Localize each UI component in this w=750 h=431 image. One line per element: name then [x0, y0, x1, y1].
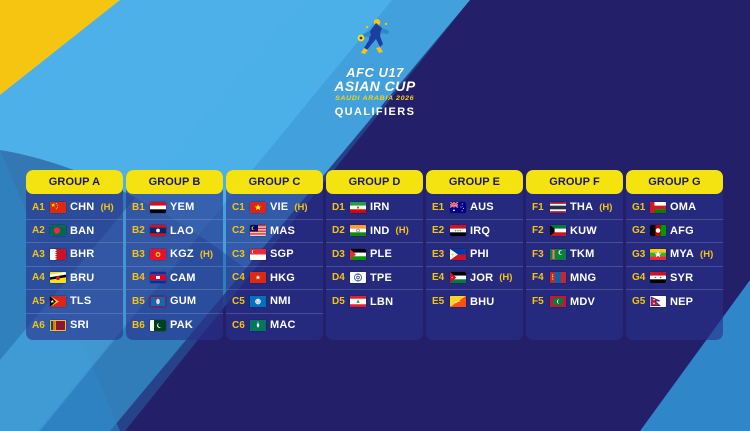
flag-hongkong-icon: [250, 272, 266, 283]
flag-singapore-icon: [250, 249, 266, 260]
team-code: TPE: [370, 272, 392, 284]
team-row: F1THA(H): [526, 196, 623, 220]
team-position: E5: [432, 296, 446, 307]
host-marker: (H): [700, 249, 713, 260]
flag-nepal-icon: [650, 296, 666, 307]
flag-malaysia-icon: [250, 225, 266, 236]
team-position: C6: [232, 320, 246, 331]
team-row: E2★★★IRQ: [426, 220, 523, 244]
team-row: D1IRN: [326, 196, 423, 220]
team-row: E4JOR(H): [426, 267, 523, 291]
team-row: C3SGP: [226, 243, 323, 267]
team-position: E3: [432, 249, 446, 260]
team-code: VIE: [270, 201, 288, 213]
team-code: MDV: [570, 296, 595, 308]
flag-guam-icon: [150, 296, 166, 307]
team-position: F4: [532, 272, 546, 283]
host-marker: (H): [294, 202, 307, 213]
host-marker: (H): [499, 272, 512, 283]
team-row: A1CHN(H): [26, 196, 123, 220]
group-team-list: D1IRND2IND(H)D3PLED4TPED5LBN: [326, 194, 423, 317]
team-row: B6PAK: [126, 314, 223, 338]
flag-afghanistan-icon: [650, 225, 666, 236]
team-code: MYA: [670, 248, 694, 260]
team-position: F1: [532, 202, 546, 213]
team-row: F3TKM: [526, 243, 623, 267]
team-position: F5: [532, 296, 546, 307]
team-row: A3BHR: [26, 243, 123, 267]
team-position: G3: [632, 249, 646, 260]
team-position: G2: [632, 225, 646, 236]
group-title: GROUP F: [526, 170, 623, 194]
flag-iraq-icon: ★★★: [450, 225, 466, 236]
flag-lebanon-icon: [350, 296, 366, 307]
flag-palestine-icon: [350, 249, 366, 260]
group-title: GROUP B: [126, 170, 223, 194]
group-card-b: GROUP BB1YEMB2LAOB3KGZ(H)B4CAMB5GUMB6PAK: [126, 170, 223, 340]
flag-chinesetaipei-icon: [350, 272, 366, 283]
team-row: E3PHI: [426, 243, 523, 267]
flag-thailand-icon: [550, 202, 566, 213]
flag-iran-icon: [350, 202, 366, 213]
team-code: LBN: [370, 296, 393, 308]
team-code: AFG: [670, 225, 694, 237]
team-row: G4SYR: [626, 267, 723, 291]
flag-oman-icon: [650, 202, 666, 213]
team-position: C4: [232, 272, 246, 283]
team-position: C3: [232, 249, 246, 260]
team-position: E2: [432, 225, 446, 236]
team-position: D4: [332, 272, 346, 283]
group-card-c: GROUP CC1VIE(H)C2MASC3SGPC4HKGC5NMIC6MAC: [226, 170, 323, 340]
team-row: B3KGZ(H): [126, 243, 223, 267]
svg-text:★★★: ★★★: [455, 229, 463, 233]
team-code: GUM: [170, 295, 196, 307]
team-position: B5: [132, 296, 146, 307]
team-position: D2: [332, 225, 346, 236]
group-team-list: B1YEMB2LAOB3KGZ(H)B4CAMB5GUMB6PAK: [126, 194, 223, 340]
team-position: E1: [432, 202, 446, 213]
team-position: A2: [32, 225, 46, 236]
team-row: D5LBN: [326, 290, 423, 314]
group-team-list: F1THA(H)F2KUWF3TKMF4MNGF5MDV: [526, 194, 623, 317]
team-row: A4BRU: [26, 267, 123, 291]
team-row: C1VIE(H): [226, 196, 323, 220]
group-card-f: GROUP FF1THA(H)F2KUWF3TKMF4MNGF5MDV: [526, 170, 623, 340]
flag-srilanka-icon: [50, 320, 66, 331]
team-code: YEM: [170, 201, 194, 213]
team-position: A6: [32, 320, 46, 331]
team-position: B6: [132, 320, 146, 331]
team-code: THA: [570, 201, 593, 213]
flag-india-icon: [350, 225, 366, 236]
team-code: AUS: [470, 201, 494, 213]
team-code: OMA: [670, 201, 696, 213]
team-row: B2LAO: [126, 220, 223, 244]
team-code: MAC: [270, 319, 296, 331]
team-code: PLE: [370, 248, 392, 260]
flag-bhutan-icon: [450, 296, 466, 307]
flag-china-icon: [50, 202, 66, 213]
team-code: LAO: [170, 225, 194, 237]
team-row: A6SRI: [26, 314, 123, 338]
flag-laos-icon: [150, 225, 166, 236]
flag-myanmar-icon: [650, 249, 666, 260]
group-card-g: GROUP GG1OMAG2AFGG3MYA(H)G4SYRG5NEP: [626, 170, 723, 340]
team-position: B3: [132, 249, 146, 260]
team-code: IRQ: [470, 225, 490, 237]
flag-turkmenistan-icon: [550, 249, 566, 260]
team-position: B4: [132, 272, 146, 283]
team-position: A1: [32, 202, 46, 213]
flag-pakistan-icon: [150, 320, 166, 331]
flag-bahrain-icon: [50, 249, 66, 260]
flag-kyrgyzstan-icon: [150, 249, 166, 260]
flag-maldives-icon: [550, 296, 566, 307]
team-position: D3: [332, 249, 346, 260]
team-code: KUW: [570, 225, 597, 237]
team-row: G2AFG: [626, 220, 723, 244]
team-position: B1: [132, 202, 146, 213]
team-row: C6MAC: [226, 314, 323, 338]
team-row: F4MNG: [526, 267, 623, 291]
team-code: BRU: [70, 272, 94, 284]
team-row: A2BAN: [26, 220, 123, 244]
group-list: GROUP AA1CHN(H)A2BANA3BHRA4BRUA5TLSA6SRI…: [26, 170, 726, 340]
team-code: CAM: [170, 272, 196, 284]
team-row: F5MDV: [526, 290, 623, 314]
team-code: BHR: [70, 248, 94, 260]
team-row: E1AUS: [426, 196, 523, 220]
team-code: HKG: [270, 272, 295, 284]
team-position: D1: [332, 202, 346, 213]
team-position: D5: [332, 296, 346, 307]
flag-macau-icon: [250, 320, 266, 331]
group-card-d: GROUP DD1IRND2IND(H)D3PLED4TPED5LBN: [326, 170, 423, 340]
team-row: C2MAS: [226, 220, 323, 244]
group-card-a: GROUP AA1CHN(H)A2BANA3BHRA4BRUA5TLSA6SRI: [26, 170, 123, 340]
team-position: G1: [632, 202, 646, 213]
team-code: SGP: [270, 248, 294, 260]
host-marker: (H): [396, 225, 409, 236]
team-row: E5BHU: [426, 290, 523, 314]
team-position: A3: [32, 249, 46, 260]
team-position: F3: [532, 249, 546, 260]
group-team-list: A1CHN(H)A2BANA3BHRA4BRUA5TLSA6SRI: [26, 194, 123, 340]
group-title: GROUP A: [26, 170, 123, 194]
flag-vietnam-icon: [250, 202, 266, 213]
team-code: MNG: [570, 272, 596, 284]
flag-northernmarianas-icon: [250, 296, 266, 307]
flag-cambodia-icon: [150, 272, 166, 283]
flag-yemen-icon: [150, 202, 166, 213]
flag-kuwait-icon: [550, 225, 566, 236]
group-card-e: GROUP EE1AUSE2★★★IRQE3PHIE4JOR(H)E5BHU: [426, 170, 523, 340]
team-row: G3MYA(H): [626, 243, 723, 267]
flag-bangladesh-icon: [50, 225, 66, 236]
flag-australia-icon: [450, 202, 466, 213]
team-position: F2: [532, 225, 546, 236]
team-position: C1: [232, 202, 246, 213]
team-row: A5TLS: [26, 290, 123, 314]
team-position: A5: [32, 296, 46, 307]
team-row: B5GUM: [126, 290, 223, 314]
host-marker: (H): [200, 249, 213, 260]
team-code: TKM: [570, 248, 594, 260]
group-team-list: E1AUSE2★★★IRQE3PHIE4JOR(H)E5BHU: [426, 194, 523, 317]
team-position: G5: [632, 296, 646, 307]
team-row: G1OMA: [626, 196, 723, 220]
team-row: B4CAM: [126, 267, 223, 291]
team-code: CHN: [70, 201, 94, 213]
team-row: C5NMI: [226, 290, 323, 314]
flag-jordan-icon: [450, 272, 466, 283]
qualifiers-group-draw-graphic: AFC U17 ASIAN CUP SAUDI ARABIA 2026 QUAL…: [0, 0, 750, 431]
group-team-list: C1VIE(H)C2MASC3SGPC4HKGC5NMIC6MAC: [226, 194, 323, 340]
group-title: GROUP C: [226, 170, 323, 194]
team-row: D2IND(H): [326, 220, 423, 244]
team-position: C5: [232, 296, 246, 307]
team-code: SRI: [70, 319, 89, 331]
team-code: BHU: [470, 296, 494, 308]
team-row: F2KUW: [526, 220, 623, 244]
team-code: TLS: [70, 295, 91, 307]
team-row: C4HKG: [226, 267, 323, 291]
group-title: GROUP E: [426, 170, 523, 194]
group-title: GROUP G: [626, 170, 723, 194]
host-marker: (H): [599, 202, 612, 213]
team-position: G4: [632, 272, 646, 283]
team-position: E4: [432, 272, 446, 283]
team-row: G5NEP: [626, 290, 723, 314]
flag-philippines-icon: [450, 249, 466, 260]
team-row: D3PLE: [326, 243, 423, 267]
flag-syria-icon: [650, 272, 666, 283]
team-code: PHI: [470, 248, 489, 260]
team-code: JOR: [470, 272, 493, 284]
team-code: IRN: [370, 201, 390, 213]
team-row: D4TPE: [326, 267, 423, 291]
team-code: IND: [370, 225, 390, 237]
team-code: NEP: [670, 296, 693, 308]
flag-mongolia-icon: [550, 272, 566, 283]
team-code: SYR: [670, 272, 693, 284]
flag-timorleste-icon: [50, 296, 66, 307]
team-code: PAK: [170, 319, 193, 331]
team-code: KGZ: [170, 248, 194, 260]
team-code: BAN: [70, 225, 94, 237]
group-team-list: G1OMAG2AFGG3MYA(H)G4SYRG5NEP: [626, 194, 723, 317]
team-position: B2: [132, 225, 146, 236]
flag-brunei-icon: [50, 272, 66, 283]
team-position: C2: [232, 225, 246, 236]
team-code: MAS: [270, 225, 295, 237]
team-row: B1YEM: [126, 196, 223, 220]
team-position: A4: [32, 272, 46, 283]
team-code: NMI: [270, 295, 291, 307]
group-title: GROUP D: [326, 170, 423, 194]
host-marker: (H): [100, 202, 113, 213]
